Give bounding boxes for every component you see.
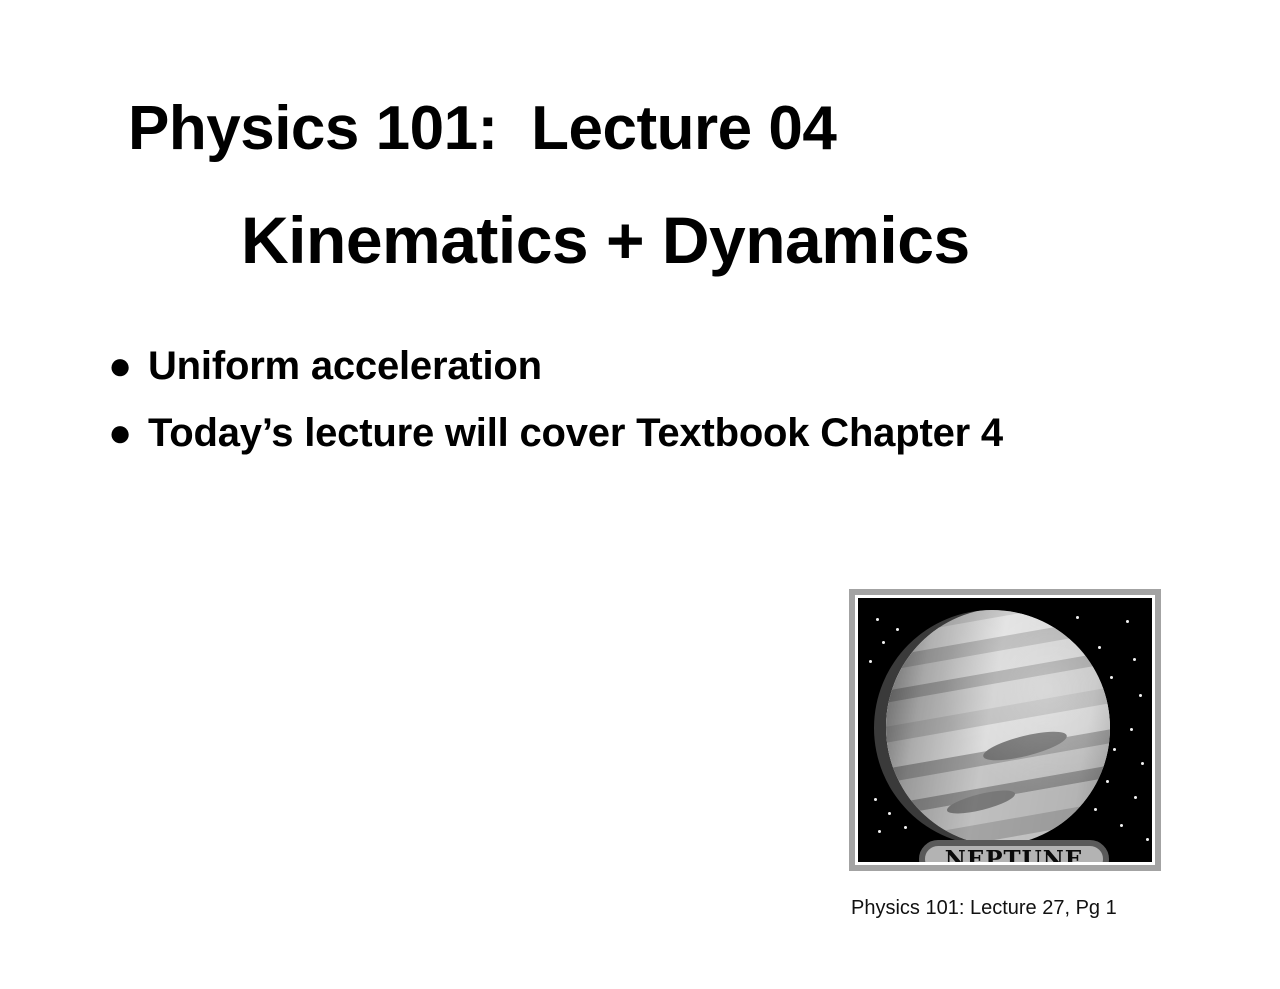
- slide-footer: Physics 101: Lecture 27, Pg 1: [851, 897, 1117, 920]
- star-icon: [874, 798, 877, 801]
- bullet-list: ● Uniform acceleration ● Today’s lecture…: [108, 342, 1198, 476]
- star-icon: [1126, 620, 1129, 623]
- star-icon: [1120, 824, 1123, 827]
- starfield-background: NEPTUNE: [858, 598, 1152, 862]
- image-frame-inner: NEPTUNE: [855, 595, 1155, 865]
- bullet-text: Uniform acceleration: [148, 342, 542, 390]
- bullet-dot-icon: ●: [108, 409, 148, 457]
- star-icon: [878, 830, 881, 833]
- star-icon: [1133, 658, 1136, 661]
- bullet-dot-icon: ●: [108, 342, 148, 390]
- star-icon: [869, 660, 872, 663]
- slide-subtitle: Kinematics + Dynamics: [241, 206, 970, 275]
- list-item: ● Today’s lecture will cover Textbook Ch…: [108, 409, 1198, 457]
- list-item: ● Uniform acceleration: [108, 342, 1198, 390]
- star-icon: [1113, 748, 1116, 751]
- slide-title: Physics 101: Lecture 04: [128, 96, 836, 161]
- star-icon: [1139, 694, 1142, 697]
- star-icon: [1110, 676, 1113, 679]
- star-icon: [1130, 728, 1133, 731]
- neptune-image: NEPTUNE: [849, 589, 1161, 871]
- planet-surface: [886, 610, 1110, 846]
- bullet-text: Today’s lecture will cover Textbook Chap…: [148, 409, 1003, 457]
- planet-shading: [886, 610, 1110, 846]
- star-icon: [896, 628, 899, 631]
- star-icon: [1134, 796, 1137, 799]
- planet-disc: [874, 610, 1110, 846]
- star-icon: [1146, 838, 1149, 841]
- neptune-caption-text: NEPTUNE: [945, 848, 1084, 863]
- star-icon: [1141, 762, 1144, 765]
- neptune-caption-plaque: NEPTUNE: [919, 840, 1109, 862]
- star-icon: [876, 618, 879, 621]
- star-icon: [882, 641, 885, 644]
- slide-canvas: Physics 101: Lecture 04 Kinematics + Dyn…: [0, 0, 1280, 989]
